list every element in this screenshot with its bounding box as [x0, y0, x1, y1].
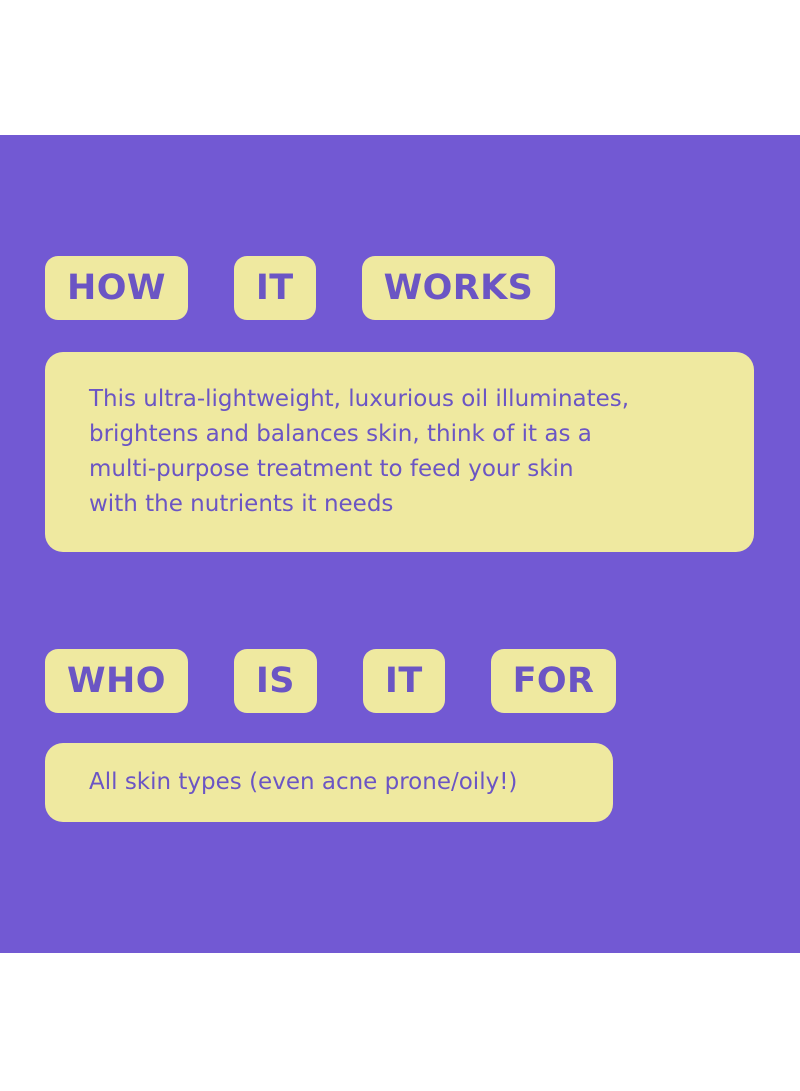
- heading-chip-works: WORKS: [362, 256, 556, 320]
- heading-chip-for: FOR: [491, 649, 617, 713]
- heading-chip-it-2: IT: [363, 649, 445, 713]
- card-who-is-it-for-text: All skin types (even acne prone/oily!): [89, 765, 517, 800]
- infographic-canvas: HOW IT WORKS This ultra-lightweight, lux…: [0, 0, 800, 1091]
- heading-chip-who: WHO: [45, 649, 188, 713]
- card-how-it-works-text: This ultra-lightweight, luxurious oil il…: [89, 382, 629, 522]
- card-who-is-it-for: All skin types (even acne prone/oily!): [45, 743, 613, 822]
- heading-chip-it: IT: [234, 256, 316, 320]
- card-how-it-works: This ultra-lightweight, luxurious oil il…: [45, 352, 754, 552]
- heading-who-is-it-for: WHO IS IT FOR: [45, 649, 616, 713]
- heading-chip-is: IS: [234, 649, 317, 713]
- heading-how-it-works: HOW IT WORKS: [45, 256, 555, 320]
- heading-chip-how: HOW: [45, 256, 188, 320]
